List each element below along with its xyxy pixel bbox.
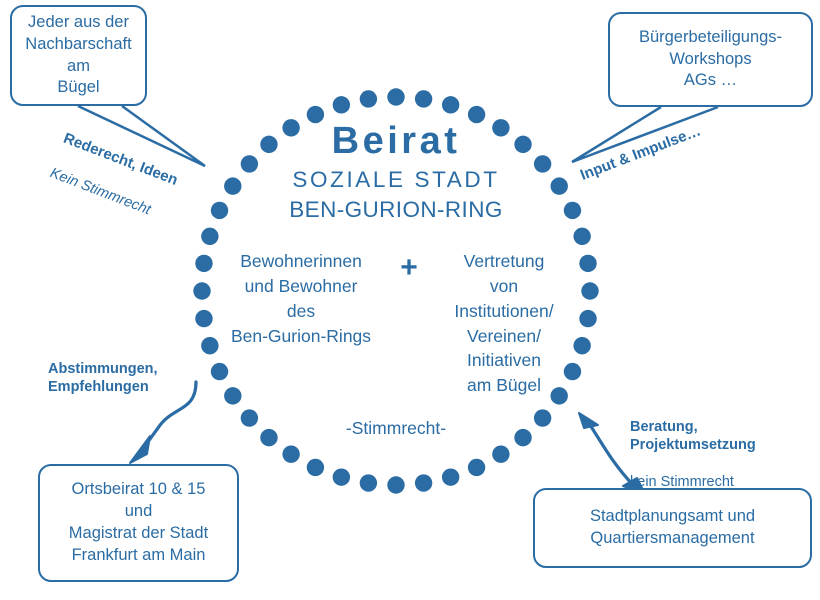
subtitle-ben-gurion-ring: BEN-GURION-RING <box>196 199 596 222</box>
members-row: Bewohnerinnen und Bewohner des Ben-Gurio… <box>196 249 596 398</box>
voting-rights-note: -Stimmrecht- <box>196 418 596 439</box>
edge-label-abstimmungen: Abstimmungen, Empfehlungen <box>48 360 158 396</box>
bubble-stadtplanung-label: Stadtplanungsamt und Quartiersmanagement <box>535 506 810 550</box>
edge-label-beratung-bold: Beratung, Projektumsetzung <box>630 418 756 454</box>
members-residents: Bewohnerinnen und Bewohner des Ben-Gurio… <box>213 249 389 348</box>
edge-label-beratung-regular: kein Stimmrecht <box>630 473 756 491</box>
diagram-canvas: Beirat SOZIALE STADT BEN-GURION-RING Bew… <box>0 0 820 600</box>
bubble-neighborhood[interactable]: Jeder aus der Nachbarschaft am Bügel <box>10 5 147 106</box>
arrow-beratung <box>590 425 632 484</box>
bubble-participation[interactable]: Bürgerbeteiligungs- Workshops AGs … <box>608 12 813 107</box>
bubble-ortsbeirat-label: Ortsbeirat 10 & 15 und Magistrat der Sta… <box>40 479 237 566</box>
arrow-abstimmungen-head <box>130 436 150 463</box>
edge-label-beratung: Beratung, Projektumsetzung kein Stimmrec… <box>630 400 756 509</box>
plus-sign: + <box>389 249 429 283</box>
page-title: Beirat <box>196 122 596 160</box>
members-institutions: Vertretung von Institutionen/ Vereinen/ … <box>429 249 579 398</box>
subtitle-soziale-stadt: SOZIALE STADT <box>196 169 596 192</box>
bubble-ortsbeirat[interactable]: Ortsbeirat 10 & 15 und Magistrat der Sta… <box>38 464 239 582</box>
bubble-participation-label: Bürgerbeteiligungs- Workshops AGs … <box>610 27 811 92</box>
bubble-neighborhood-label: Jeder aus der Nachbarschaft am Bügel <box>12 12 145 99</box>
council-content: Beirat SOZIALE STADT BEN-GURION-RING Bew… <box>196 100 596 490</box>
